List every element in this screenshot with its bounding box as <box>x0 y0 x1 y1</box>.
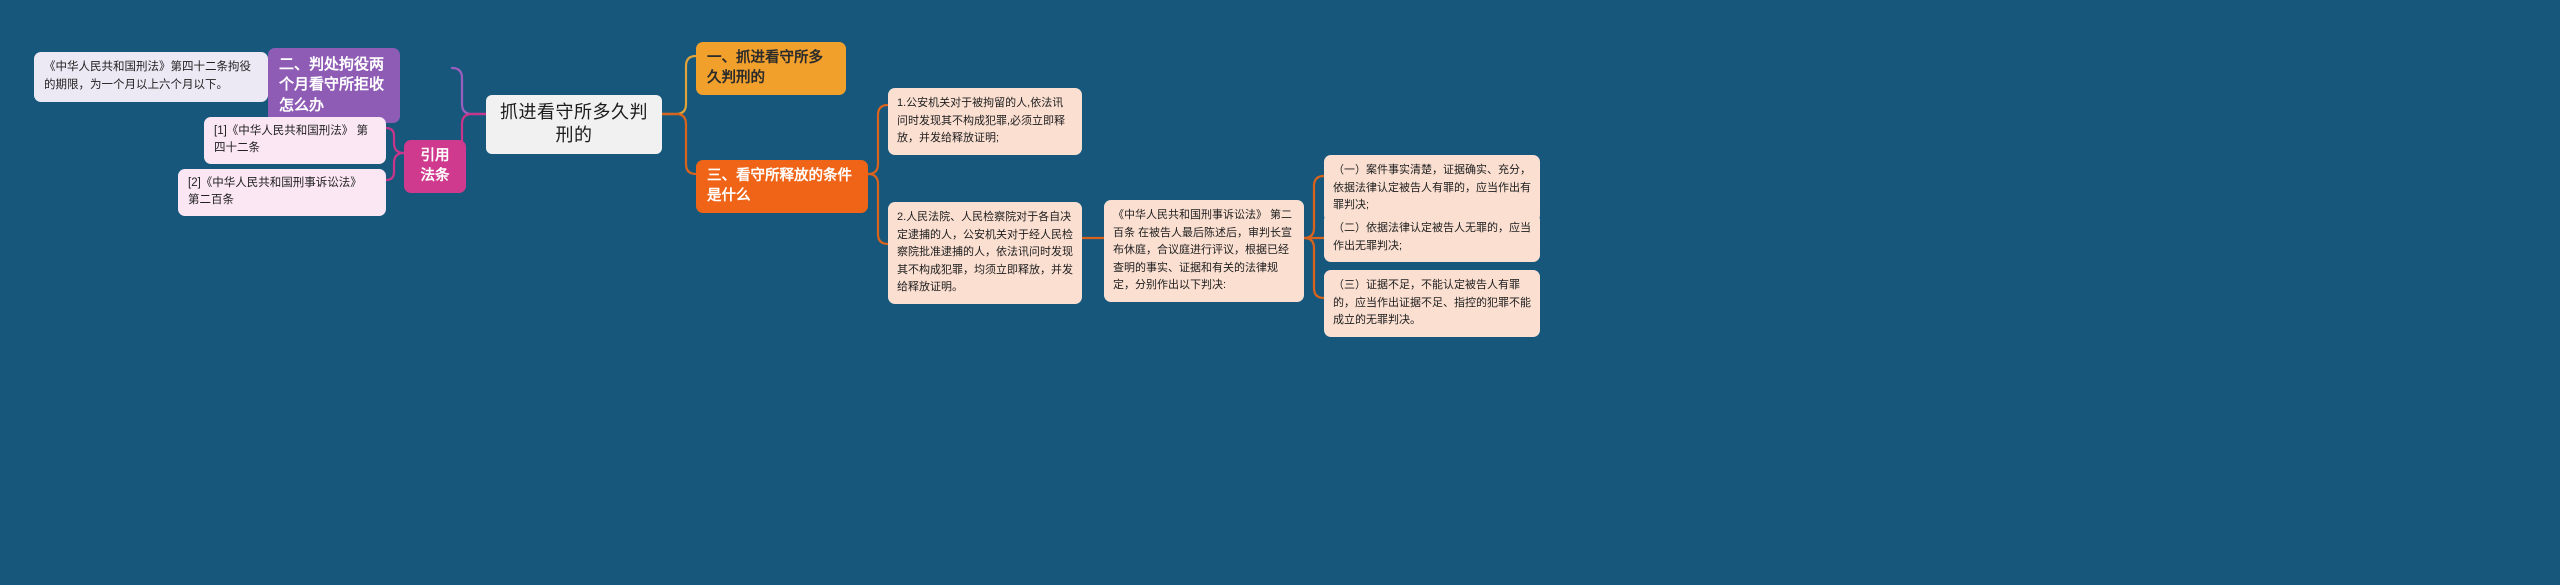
root-node[interactable]: 抓进看守所多久判刑的 <box>486 95 662 154</box>
mindmap-canvas: 《中华人民共和国刑法》第四十二条拘役的期限，为一个月以上六个月以下。 二、判处拘… <box>0 0 2560 585</box>
verdict-text: （三）证据不足，不能认定被告人有罪的，应当作出证据不足、指控的犯罪不能成立的无罪… <box>1333 277 1531 330</box>
verdict-text: （二）依据法律认定被告人无罪的，应当作出无罪判决; <box>1333 220 1531 255</box>
verdict-text: （一）案件事实清楚，证据确实、充分，依据法律认定被告人有罪的，应当作出有罪判决; <box>1333 162 1531 215</box>
verdict-option-1[interactable]: （一）案件事实清楚，证据确实、充分，依据法律认定被告人有罪的，应当作出有罪判决; <box>1324 155 1540 222</box>
branch-node-cited-statutes[interactable]: 引用法条 <box>404 140 466 193</box>
criminal-procedure-law-article-200[interactable]: 《中华人民共和国刑事诉讼法》 第二百条 在被告人最后陈述后，审判长宣布休庭，合议… <box>1104 200 1304 302</box>
citation-text: [1]《中华人民共和国刑法》 第四十二条 <box>214 123 376 158</box>
branch-label: 三、看守所释放的条件是什么 <box>707 167 857 206</box>
leaf-criminal-law-article-42[interactable]: 《中华人民共和国刑法》第四十二条拘役的期限，为一个月以上六个月以下。 <box>34 52 268 102</box>
verdict-option-3[interactable]: （三）证据不足，不能认定被告人有罪的，应当作出证据不足、指控的犯罪不能成立的无罪… <box>1324 270 1540 337</box>
release-condition-1[interactable]: 1.公安机关对于被拘留的人,依法讯问时发现其不构成犯罪,必须立即释放，并发给释放… <box>888 88 1082 155</box>
leaf-text: 《中华人民共和国刑法》第四十二条拘役的期限，为一个月以上六个月以下。 <box>44 59 258 95</box>
branch-node-2-detention-rejected[interactable]: 二、判处拘役两个月看守所拒收怎么办 <box>268 48 400 123</box>
citation-item-2[interactable]: [2]《中华人民共和国刑事诉讼法》 第二百条 <box>178 169 386 216</box>
verdict-option-2[interactable]: （二）依据法律认定被告人无罪的，应当作出无罪判决; <box>1324 213 1540 262</box>
statute-text: 《中华人民共和国刑事诉讼法》 第二百条 在被告人最后陈述后，审判长宣布休庭，合议… <box>1113 207 1295 295</box>
citation-item-1[interactable]: [1]《中华人民共和国刑法》 第四十二条 <box>204 117 386 164</box>
release-condition-text: 2.人民法院、人民检察院对于各自决定逮捕的人，公安机关对于经人民检察院批准逮捕的… <box>897 209 1073 297</box>
branch-label: 二、判处拘役两个月看守所拒收怎么办 <box>279 55 389 116</box>
branch-label: 一、抓进看守所多久判刑的 <box>707 49 835 88</box>
citation-text: [2]《中华人民共和国刑事诉讼法》 第二百条 <box>188 175 376 210</box>
branch-node-3-release-conditions[interactable]: 三、看守所释放的条件是什么 <box>696 160 868 213</box>
branch-label: 引用法条 <box>415 147 455 186</box>
release-condition-2[interactable]: 2.人民法院、人民检察院对于各自决定逮捕的人，公安机关对于经人民检察院批准逮捕的… <box>888 202 1082 304</box>
root-label: 抓进看守所多久判刑的 <box>498 101 650 148</box>
branch-node-1-time-to-sentence[interactable]: 一、抓进看守所多久判刑的 <box>696 42 846 95</box>
release-condition-text: 1.公安机关对于被拘留的人,依法讯问时发现其不构成犯罪,必须立即释放，并发给释放… <box>897 95 1073 148</box>
